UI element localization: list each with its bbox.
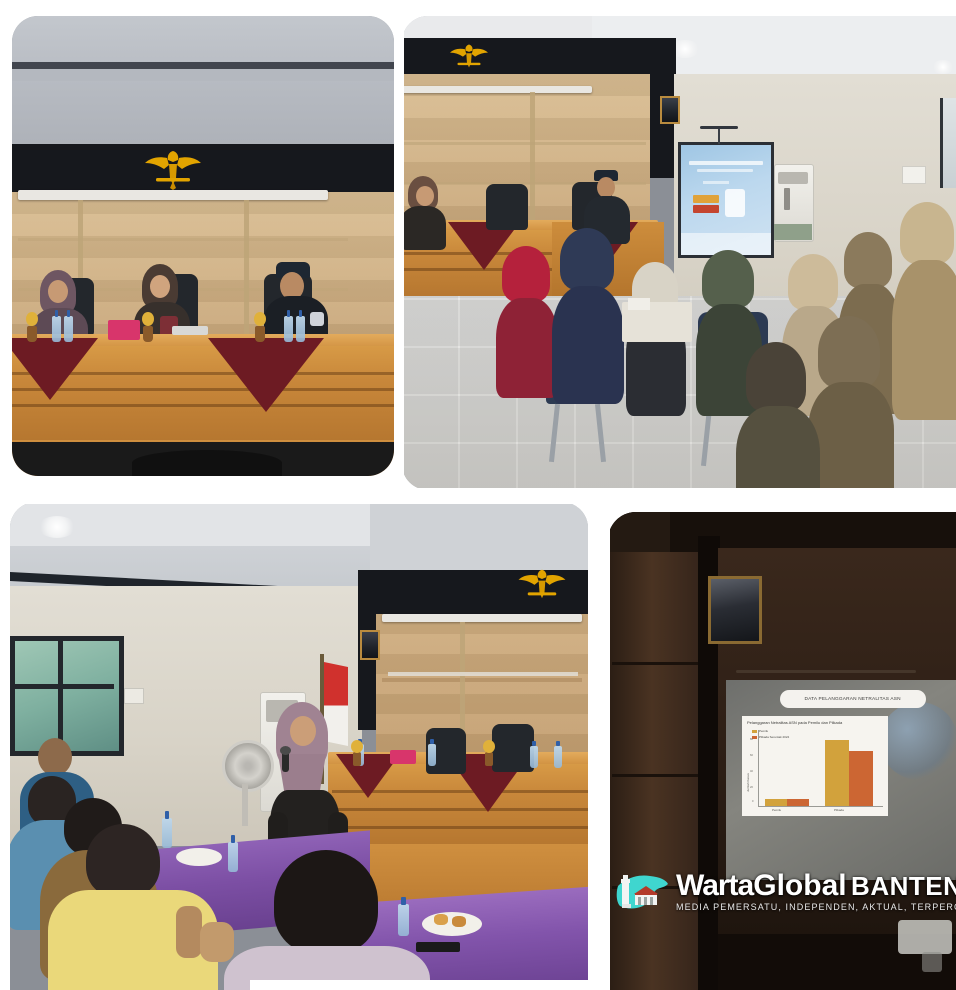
garuda-emblem-icon [516,564,568,604]
legend-swatch-pemilu [752,730,757,733]
bar-pilkada-series2 [849,751,873,806]
projected-slide: DATA PELANGGARAN NETRALITAS ASN Pelangga… [726,680,956,880]
collage-gap-horizontal [0,488,956,504]
window [10,636,124,756]
photo-bottom-left [10,502,588,990]
framed-portrait [660,96,680,124]
bar-pemilu-series1 [765,799,787,806]
collage-edge-top [0,0,400,16]
collage-edge-left [0,0,12,500]
bar-pilkada-series1 [825,740,849,806]
collage-gap-vertical-bottom [588,490,610,990]
table-cloth-right [208,338,324,412]
slide-title-pill: DATA PELANGGARAN NETRALITAS ASN [780,690,926,708]
watermark: WartaGlobal BANTEN MEDIA PEMERSATU, INDE… [616,870,956,912]
garuda-emblem-icon [142,145,204,191]
table-cloth-left [12,338,98,400]
chart-xtick-pilkada: Pilkada [834,808,844,812]
slide-bar-chart: Pelanggaran Netralitas ASN pada Pemilu d… [742,716,888,816]
warta-global-banten-lighthouse-logo [616,870,670,912]
watermark-word-banten: BANTEN [851,871,956,901]
flower-vase [24,312,40,342]
wood-column [608,552,706,990]
collage-edge-bottom [250,980,594,990]
photo-top-left [12,16,394,476]
photo-top-right [402,16,956,490]
chart-plot-area [758,730,883,807]
chart-title: Pelanggaran Netralitas ASN pada Pemilu d… [747,720,842,725]
slide-title: DATA PELANGGARAN NETRALITAS ASN [805,696,901,702]
watermark-word-global: Global [753,869,846,902]
watermark-tagline: MEDIA PEMERSATU, INDEPENDEN, AKTUAL, TER… [676,903,956,912]
collage-gap-vertical-top [394,0,404,500]
photo-bottom-right: DATA PELANGGARAN NETRALITAS ASN Pelangga… [608,512,956,990]
framed-portrait [360,630,380,660]
photo-collage: DATA PELANGGARAN NETRALITAS ASN Pelangga… [0,0,956,990]
pink-box [108,320,140,340]
food-plate [176,848,222,866]
chart-ylabel: Jumlah Kasus [746,773,750,792]
watermark-word-warta: Warta [676,869,753,902]
projector-screen [678,142,774,258]
standing-fan [222,740,274,792]
garuda-emblem-icon [448,40,490,72]
framed-portrait [708,576,762,644]
bar-pemilu-series2 [787,799,809,806]
chart-xtick-pemilu: Pemilu [772,808,781,812]
